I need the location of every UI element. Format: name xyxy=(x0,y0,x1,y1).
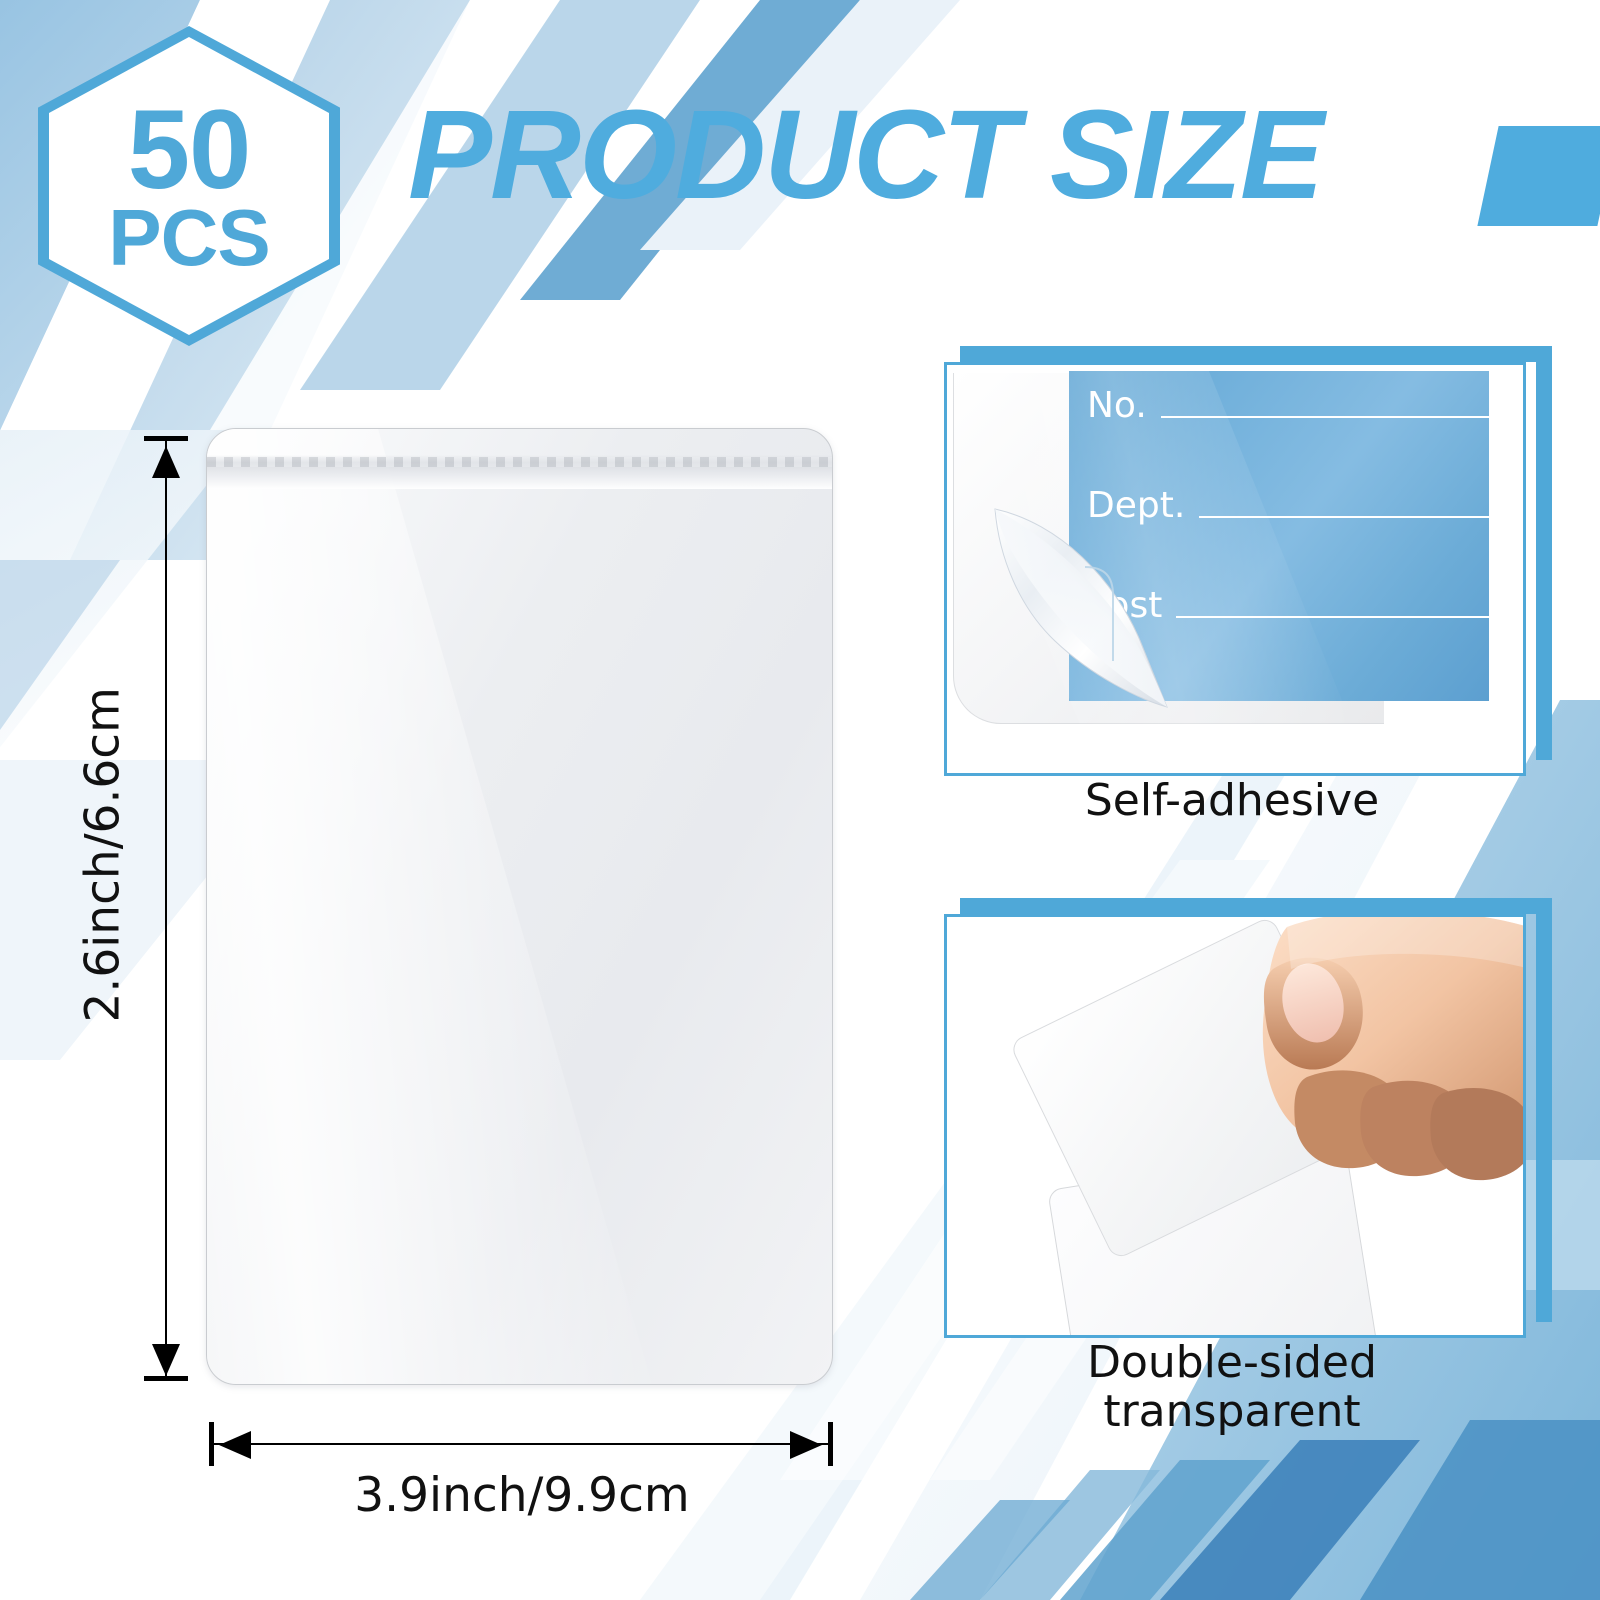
quantity-badge: 50 PCS xyxy=(38,26,340,346)
label-field-no-text: No. xyxy=(1087,385,1147,426)
card-seal-strip xyxy=(207,455,832,489)
width-cap-right xyxy=(828,1422,833,1466)
height-dimension-label: 2.6inch/6.6cm xyxy=(76,693,131,1023)
height-arrow-up-icon xyxy=(152,446,180,478)
hand-icon xyxy=(1247,914,1526,1237)
panel2-caption: Double-sided transparent xyxy=(944,1338,1520,1437)
badge-quantity: 50 xyxy=(128,98,251,201)
panel2-caption-line1: Double-sided xyxy=(944,1338,1520,1387)
panel1-frame: No. Dept. Post xyxy=(944,362,1526,776)
width-arrow-right-icon xyxy=(790,1431,822,1459)
product-card-image xyxy=(206,428,833,1385)
title-accent-block xyxy=(1477,126,1600,226)
panel1-band-right xyxy=(1536,346,1552,760)
width-dimension-line xyxy=(212,1443,832,1445)
width-arrow-left-icon xyxy=(219,1431,251,1459)
card-sheen xyxy=(206,428,682,1385)
page-title: PRODUCT SIZE xyxy=(408,92,1322,218)
label-field-no-rule xyxy=(1161,416,1489,418)
width-dimension-label: 3.9inch/9.9cm xyxy=(212,1468,832,1523)
peel-corner-icon xyxy=(989,461,1229,711)
panel1-band-top xyxy=(960,346,1552,362)
height-arrow-down-icon xyxy=(152,1344,180,1376)
label-field-dept-rule xyxy=(1199,516,1489,518)
height-dimension-line xyxy=(165,438,167,1378)
feature-panel-double-sided: Double-sided transparent xyxy=(944,898,1552,1338)
height-cap-bottom xyxy=(144,1376,188,1381)
panel2-frame xyxy=(944,914,1526,1338)
product-size-infographic: 50 PCS PRODUCT SIZE 2.6inch/6.6cm 3.9inc… xyxy=(0,0,1600,1600)
panel1-caption: Self-adhesive xyxy=(944,776,1520,825)
label-field-no: No. xyxy=(1087,385,1489,426)
badge-unit: PCS xyxy=(108,201,270,275)
feature-panel-self-adhesive: No. Dept. Post xyxy=(944,346,1552,776)
panel2-band-right xyxy=(1536,898,1552,1322)
panel2-caption-line2: transparent xyxy=(944,1387,1520,1436)
panel2-band-top xyxy=(960,898,1552,914)
badge-text-group: 50 PCS xyxy=(38,26,340,346)
